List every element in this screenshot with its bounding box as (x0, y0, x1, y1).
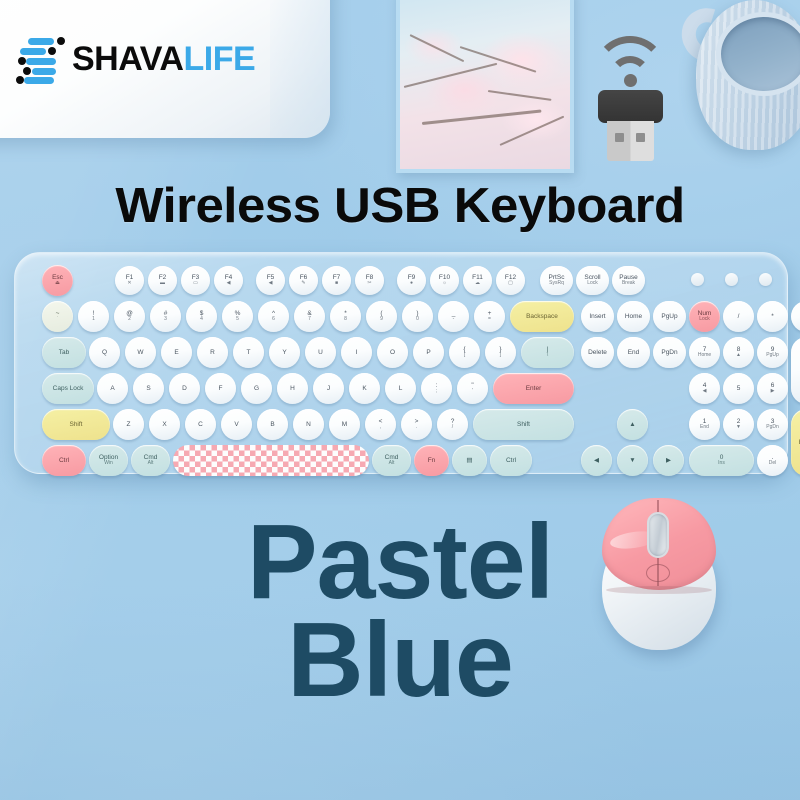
key-fn[interactable]: Fn (414, 445, 449, 476)
key-sublabel: 2 (128, 317, 131, 323)
key-label: Tab (59, 349, 69, 356)
key-p[interactable]: P (413, 337, 444, 368)
key-h[interactable]: H (277, 373, 308, 404)
key-sublabel: 0 (416, 317, 419, 323)
key-shift[interactable]: Shift (473, 409, 574, 440)
key-6[interactable]: 6▶ (757, 373, 788, 404)
key-f11[interactable]: F11☁ (463, 266, 492, 295)
key-sublabel: ✎ (301, 281, 305, 287)
key-sublabel: Lock (699, 317, 710, 323)
key-sublabel: ▭ (193, 281, 198, 287)
key-esc[interactable]: Esc⏏ (42, 265, 73, 296)
color-name-line2: Blue (0, 612, 800, 710)
key-label: ▶ (666, 457, 671, 464)
key-sublabel: End (700, 425, 709, 431)
key-tab[interactable]: Tab (42, 337, 86, 368)
key-sublabel: = (488, 317, 491, 323)
key-t[interactable]: T (233, 337, 264, 368)
key-sublabel: \ (547, 353, 548, 359)
key-label: N (306, 421, 311, 428)
key-label: Y (282, 349, 286, 356)
key-sublabel: ▶ (771, 389, 775, 395)
color-name-label: Pastel Blue (0, 514, 800, 709)
key-l[interactable]: L (385, 373, 416, 404)
key-[interactable]: * (757, 301, 788, 332)
key-delete[interactable]: Delete (581, 337, 614, 368)
key-label: E (174, 349, 178, 356)
key-[interactable]: ~` (42, 301, 73, 332)
key-label: Enter (526, 385, 542, 392)
logo-bar-4 (32, 68, 56, 75)
page-title: Wireless USB Keyboard (0, 178, 800, 234)
key-[interactable]: |\ (521, 337, 574, 368)
key-d[interactable]: D (169, 373, 200, 404)
key-label: ◀ (594, 457, 599, 464)
key-sublabel: PgDn (766, 425, 779, 431)
key-label: * (771, 313, 774, 320)
key-label: Backspace (526, 313, 558, 320)
key-label: Shift (517, 421, 530, 428)
key-0[interactable]: 0Ins (689, 445, 754, 476)
key-sublabel: ■ (335, 281, 338, 287)
key-label: C (198, 421, 203, 428)
key-label: A (110, 385, 114, 392)
logo-dot-4 (23, 67, 31, 75)
key-label: Insert (589, 313, 605, 320)
logo-dot-5 (16, 76, 24, 84)
key-[interactable]: (9 (366, 301, 397, 332)
key-insert[interactable]: Insert (581, 301, 614, 332)
key-label: S (146, 385, 150, 392)
key-label: PgUp (661, 313, 677, 320)
color-name-line1: Pastel (0, 514, 800, 612)
wifi-dot-icon (624, 74, 637, 87)
key-v[interactable]: V (221, 409, 252, 440)
num-lock-led (725, 273, 738, 286)
key-sublabel: 4 (200, 317, 203, 323)
shava-bars-icon (16, 36, 60, 82)
key-sublabel: ⏏ (55, 281, 60, 287)
key-sublabel: Win (104, 461, 113, 467)
key-4[interactable]: 4◀ (689, 373, 720, 404)
key-label: I (356, 349, 358, 356)
key-f2[interactable]: F2▬ (148, 266, 177, 295)
key-[interactable]: <, (365, 409, 396, 440)
key-label: Home (625, 313, 642, 320)
key-sublabel: - (453, 317, 455, 323)
key-sublabel: ] (500, 353, 501, 359)
key-f10[interactable]: F10☼ (430, 266, 459, 295)
logo-bar-2 (20, 48, 46, 55)
sakura-branch-2 (422, 109, 542, 124)
key-sublabel: [ (464, 353, 465, 359)
key-home[interactable]: Home (617, 301, 650, 332)
key-a[interactable]: A (97, 373, 128, 404)
key-sublabel: . (416, 425, 417, 431)
key-f6[interactable]: F6✎ (289, 266, 318, 295)
caps-lock-led (691, 273, 704, 286)
key-label: B (270, 421, 274, 428)
logo-dot-2 (48, 47, 56, 55)
key-[interactable]: :; (421, 373, 452, 404)
key-[interactable]: ▤ (452, 445, 487, 476)
key-shift[interactable]: Shift (42, 409, 110, 440)
key-[interactable]: _- (438, 301, 469, 332)
sakura-branch-5 (410, 34, 465, 62)
key-label: Caps Lock (53, 385, 84, 392)
key-sublabel: Break (622, 281, 635, 287)
key-9[interactable]: 9PgUp (757, 337, 788, 368)
key-label: O (390, 349, 395, 356)
sakura-branch-4 (500, 116, 565, 147)
key-label: Z (127, 421, 131, 428)
key-num[interactable]: NumLock (689, 301, 720, 332)
wireless-keyboard[interactable]: Esc⏏F1✕F2▬F3▭F4◀F5◀F6✎F7■F8✂F9●F10☼F11☁F… (14, 252, 788, 474)
key-[interactable]: @2 (114, 301, 145, 332)
key-[interactable]: *8 (330, 301, 361, 332)
key-[interactable]: }] (485, 337, 516, 368)
key-sublabel: Del (769, 461, 777, 467)
key-[interactable]: ^6 (258, 301, 289, 332)
key-c[interactable]: C (185, 409, 216, 440)
key-label: H (290, 385, 295, 392)
key-f[interactable]: F (205, 373, 236, 404)
usb-receiver-icon (576, 30, 684, 172)
key-sublabel: 3 (164, 317, 167, 323)
key-pause[interactable]: PauseBreak (612, 266, 645, 295)
key-pgdn[interactable]: PgDn (653, 337, 686, 368)
key-sublabel: 6 (272, 317, 275, 323)
key-label: Delete (588, 349, 607, 356)
key-label: Fn (428, 457, 436, 464)
key-f9[interactable]: F9● (397, 266, 426, 295)
key-[interactable]: &7 (294, 301, 325, 332)
key-sublabel: 1 (92, 317, 95, 323)
key-1[interactable]: 1End (689, 409, 720, 440)
cherry-blossom-photo (396, 0, 574, 173)
key-prtsc[interactable]: PrtScSysRq (540, 266, 573, 295)
key-sublabel: SysRq (549, 281, 564, 287)
key-8[interactable]: 8▲ (723, 337, 754, 368)
key-sublabel: Ins (718, 461, 725, 467)
key-sublabel: 5 (236, 317, 239, 323)
key-label: K (362, 385, 366, 392)
key-label: Shift (69, 421, 82, 428)
key-[interactable]: >. (401, 409, 432, 440)
dongle-pin-left (615, 133, 624, 142)
key-label: Ctrl (59, 457, 69, 464)
key-j[interactable]: J (313, 373, 344, 404)
key-scroll[interactable]: ScrollLock (576, 266, 609, 295)
key-sublabel: ☼ (442, 281, 447, 287)
key-label: PgDn (661, 349, 677, 356)
laptop-sheen (270, 0, 330, 138)
ceramic-mug-prop (674, 0, 800, 156)
key-label: L (399, 385, 403, 392)
numpad-plus[interactable]: + (791, 337, 800, 404)
key-g[interactable]: G (241, 373, 272, 404)
key-[interactable]: / (723, 301, 754, 332)
key-sublabel: Alt (389, 461, 395, 467)
key-ctrl[interactable]: Ctrl (42, 445, 86, 476)
numpad-enter[interactable]: Enter (791, 409, 800, 476)
key-sublabel: ☁ (475, 281, 480, 287)
key-label: J (327, 385, 330, 392)
key-label: P (426, 349, 430, 356)
key-q[interactable]: Q (89, 337, 120, 368)
key-label: Q (102, 349, 107, 356)
brand-logo: SHAVALIFE (16, 36, 255, 82)
logo-dot-3 (18, 57, 26, 65)
keyboard-key-area: Esc⏏F1✕F2▬F3▭F4◀F5◀F6✎F7■F8✂F9●F10☼F11☁F… (25, 261, 777, 465)
key-[interactable]: ◀ (581, 445, 612, 476)
key-sublabel: ✕ (127, 281, 131, 287)
key-sublabel: ' (472, 389, 473, 395)
key-sublabel: ◀ (703, 389, 707, 395)
key-k[interactable]: K (349, 373, 380, 404)
key-y[interactable]: Y (269, 337, 300, 368)
key-label: G (254, 385, 259, 392)
key-sublabel: , (380, 425, 381, 431)
key-7[interactable]: 7Home (689, 337, 720, 368)
key-backspace[interactable]: Backspace (510, 301, 574, 332)
key-[interactable]: {[ (449, 337, 480, 368)
key-sublabel: ▬ (160, 281, 165, 287)
key-label: R (210, 349, 215, 356)
key-label: ▼ (629, 457, 635, 464)
key-sublabel: ✂ (367, 281, 371, 287)
key-sublabel: ` (57, 317, 59, 323)
key-sublabel: ◀ (269, 281, 273, 287)
key-[interactable]: !1 (78, 301, 109, 332)
key-label: D (182, 385, 187, 392)
key-m[interactable]: M (329, 409, 360, 440)
key-s[interactable]: S (133, 373, 164, 404)
key-label: V (234, 421, 238, 428)
key-sublabel: Home (698, 353, 711, 359)
key-n[interactable]: N (293, 409, 324, 440)
key-label: End (628, 349, 640, 356)
key-cmd[interactable]: CmdAlt (372, 445, 411, 476)
key-cmd[interactable]: CmdAlt (131, 445, 170, 476)
key-sublabel: PgUp (766, 353, 779, 359)
key-f4[interactable]: F4◀ (214, 266, 243, 295)
key-[interactable]: ▼ (617, 445, 648, 476)
key-[interactable]: $4 (186, 301, 217, 332)
key-sublabel: 7 (308, 317, 311, 323)
key-label: T (247, 349, 251, 356)
key-i[interactable]: I (341, 337, 372, 368)
key-w[interactable]: W (125, 337, 156, 368)
key-sublabel: 8 (344, 317, 347, 323)
key-sublabel: ▢ (508, 281, 513, 287)
key-[interactable]: #3 (150, 301, 181, 332)
key-label: / (738, 313, 740, 320)
dongle-pin-right (636, 133, 645, 142)
key-[interactable]: "' (457, 373, 488, 404)
key-sublabel: Lock (587, 281, 598, 287)
key-r[interactable]: R (197, 337, 228, 368)
sakura-branch-6 (488, 90, 552, 100)
key-label: Ctrl (506, 457, 516, 464)
key-sublabel: ; (436, 389, 437, 395)
key-label: ▲ (629, 421, 635, 428)
key-label: M (342, 421, 347, 428)
key-x[interactable]: X (149, 409, 180, 440)
key-[interactable]: )0 (402, 301, 433, 332)
key-b[interactable]: B (257, 409, 288, 440)
dongle-connector (607, 121, 654, 161)
key-sublabel: 9 (380, 317, 383, 323)
brand-wordmark-dark: SHAVA (72, 40, 183, 78)
key-sublabel: ◀ (227, 281, 231, 287)
key-2[interactable]: 2▼ (723, 409, 754, 440)
key-label: F (219, 385, 223, 392)
key-f7[interactable]: F7■ (322, 266, 351, 295)
key-f8[interactable]: F8✂ (355, 266, 384, 295)
key-f3[interactable]: F3▭ (181, 266, 210, 295)
key-o[interactable]: O (377, 337, 408, 368)
scroll-lock-led (759, 273, 772, 286)
key-f1[interactable]: F1✕ (115, 266, 144, 295)
key-option[interactable]: OptionWin (89, 445, 128, 476)
key-[interactable]: += (474, 301, 505, 332)
key-u[interactable]: U (305, 337, 336, 368)
key-label: 5 (737, 385, 741, 392)
logo-bar-5 (24, 77, 54, 84)
key-space[interactable] (173, 445, 369, 476)
key-f12[interactable]: F12▢ (496, 266, 525, 295)
brand-wordmark: SHAVALIFE (72, 42, 255, 76)
key-[interactable]: %5 (222, 301, 253, 332)
key-label: W (137, 349, 143, 356)
brand-wordmark-blue: LIFE (183, 40, 255, 78)
key-z[interactable]: Z (113, 409, 144, 440)
logo-bar-3 (26, 58, 56, 65)
key-sublabel: ● (410, 281, 413, 287)
key-sublabel: / (452, 425, 453, 431)
key-end[interactable]: End (617, 337, 650, 368)
key-f5[interactable]: F5◀ (256, 266, 285, 295)
key-sublabel: Alt (148, 461, 154, 467)
key-3[interactable]: 3PgDn (757, 409, 788, 440)
key-label: ▤ (466, 457, 472, 464)
dongle-body (598, 90, 663, 123)
key-sublabel: ▼ (736, 425, 741, 431)
key-ctrl[interactable]: Ctrl (490, 445, 532, 476)
key-enter[interactable]: Enter (493, 373, 574, 404)
logo-dot-1 (57, 37, 65, 45)
key-[interactable]: ?/ (437, 409, 468, 440)
key-[interactable]: ▶ (653, 445, 684, 476)
logo-bar-1 (28, 38, 54, 45)
key-label: X (162, 421, 166, 428)
key-[interactable]: .Del (757, 445, 788, 476)
key-5[interactable]: 5 (723, 373, 754, 404)
sakura-branch-1 (404, 63, 498, 89)
key-caps-lock[interactable]: Caps Lock (42, 373, 94, 404)
key-pgup[interactable]: PgUp (653, 301, 686, 332)
key-[interactable]: ▲ (617, 409, 648, 440)
key-sublabel: ▲ (736, 353, 741, 359)
key-e[interactable]: E (161, 337, 192, 368)
key-label: U (318, 349, 323, 356)
